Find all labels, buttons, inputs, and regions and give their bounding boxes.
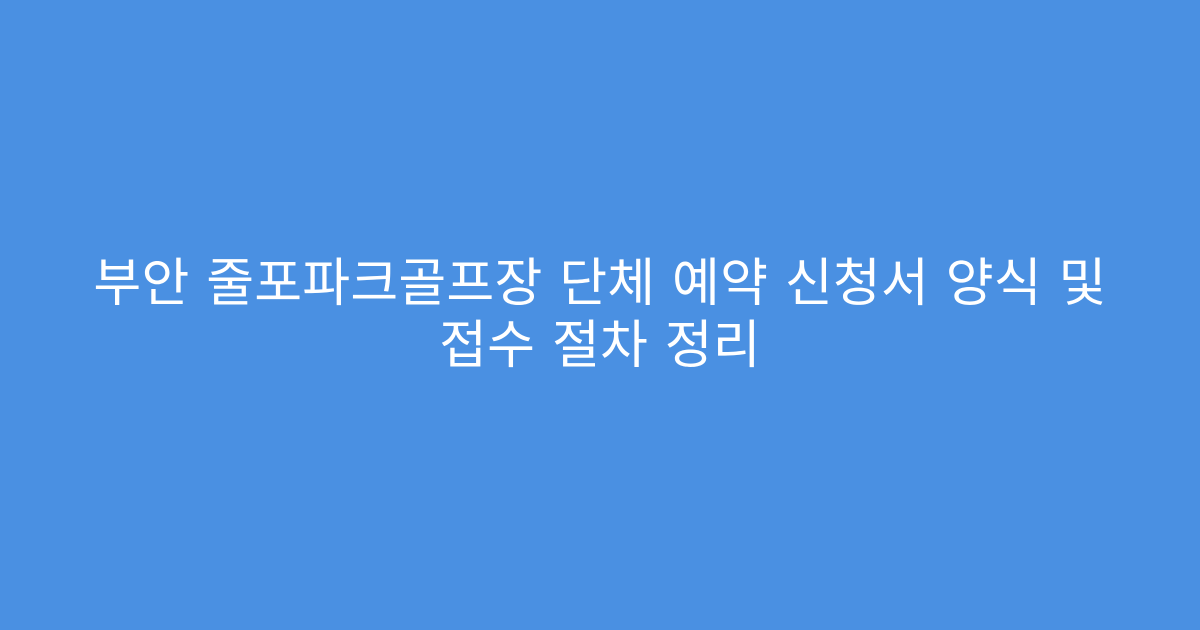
og-card: 부안 줄포파크골프장 단체 예약 신청서 양식 및 접수 절차 정리 bbox=[0, 0, 1200, 630]
title-block: 부안 줄포파크골프장 단체 예약 신청서 양식 및 접수 절차 정리 bbox=[75, 253, 1125, 377]
page-title: 부안 줄포파크골프장 단체 예약 신청서 양식 및 접수 절차 정리 bbox=[85, 253, 1115, 377]
